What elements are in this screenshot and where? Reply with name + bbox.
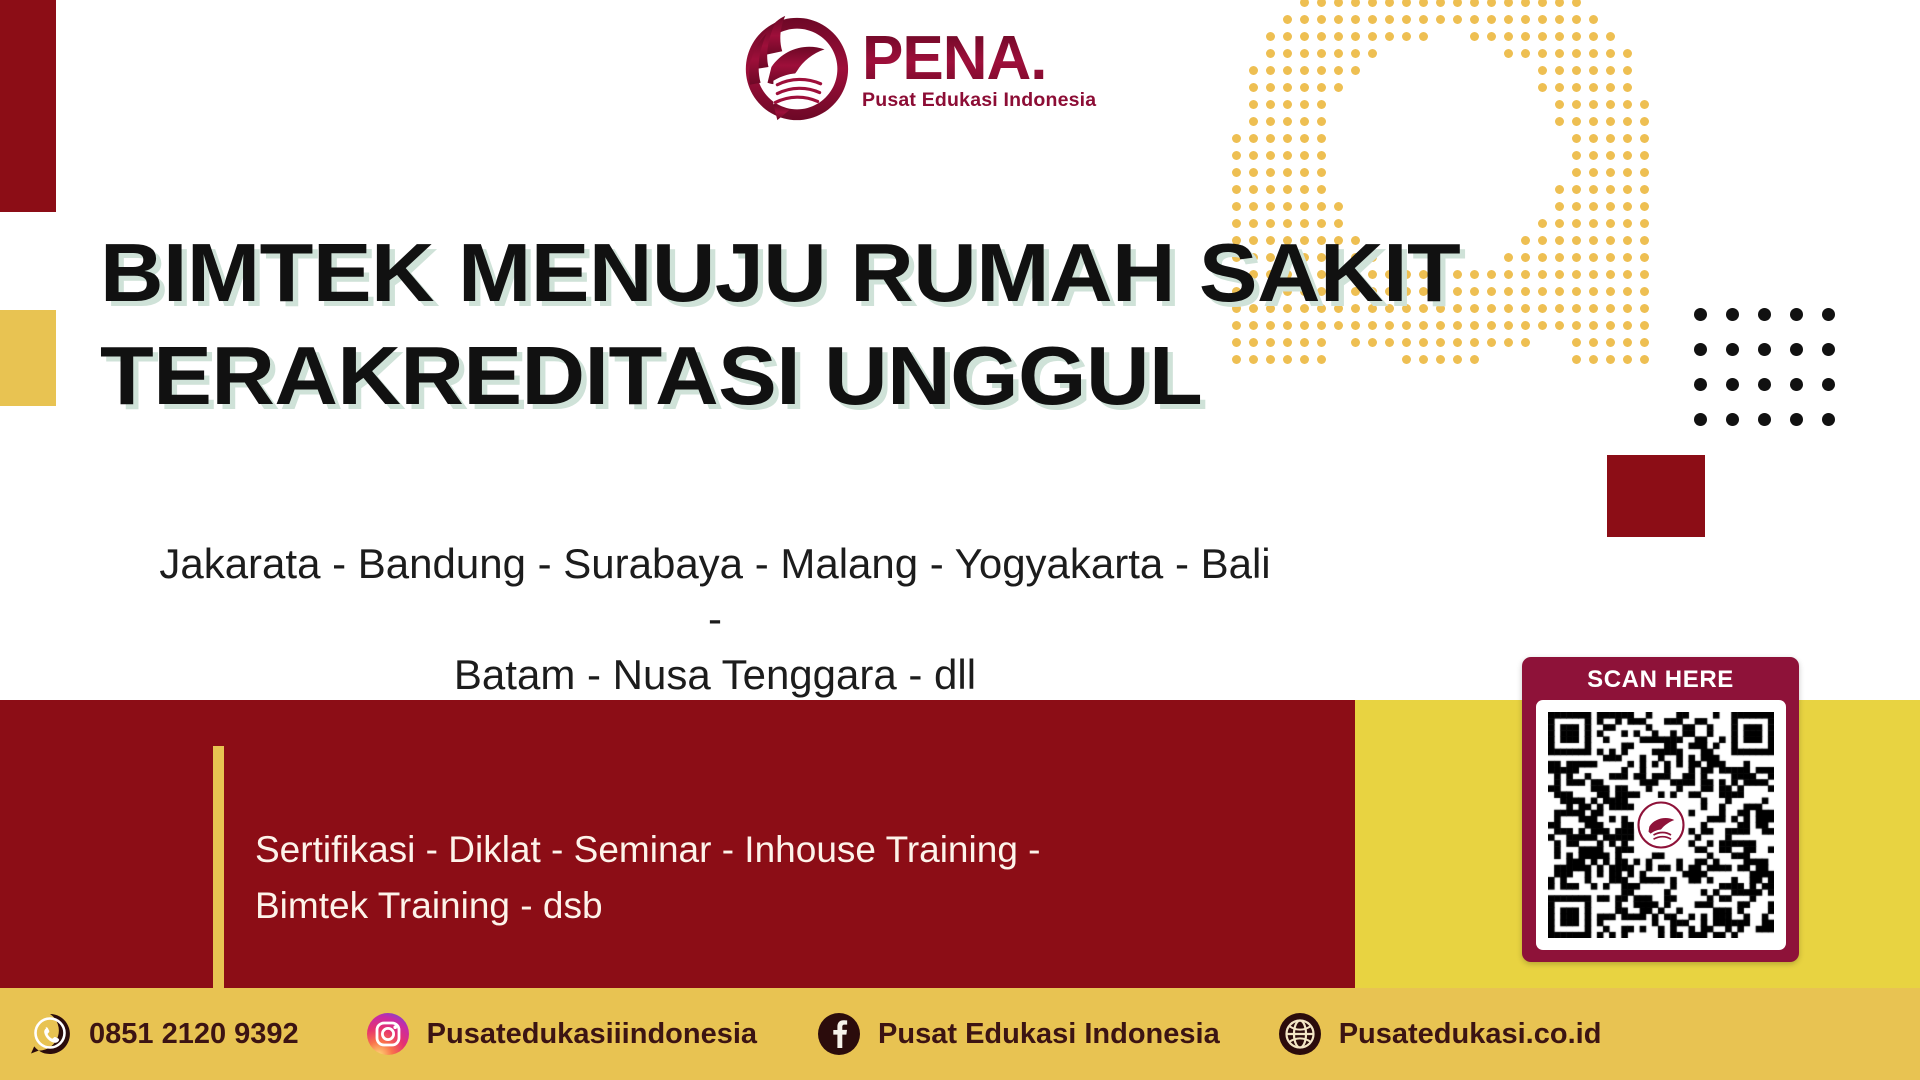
logo-tagline: Pusat Edukasi Indonesia	[862, 89, 1096, 112]
whatsapp-icon	[28, 1012, 72, 1056]
headline-line-1: BIMTEK MENUJU RUMAH SAKIT	[100, 232, 1467, 313]
qr-center-logo-icon	[1634, 798, 1688, 852]
services-accent-bar	[213, 746, 224, 988]
contact-website[interactable]: Pusatedukasi.co.id	[1278, 1012, 1602, 1056]
headline: BIMTEK MENUJU RUMAH SAKIT TERAKREDITASI …	[100, 232, 1390, 417]
services-line-1: Sertifikasi - Diklat - Seminar - Inhouse…	[255, 822, 1265, 878]
cities-line-1: Jakarata - Bandung - Surabaya - Malang -…	[150, 536, 1280, 647]
dot-grid-decoration	[1694, 308, 1844, 440]
services-line-2: Bimtek Training - dsb	[255, 878, 1265, 934]
contact-facebook[interactable]: Pusat Edukasi Indonesia	[817, 1012, 1220, 1056]
contact-website-label: Pusatedukasi.co.id	[1339, 1018, 1602, 1051]
left-gold-block	[0, 310, 56, 406]
contact-instagram-label: Pusatedukasiiindonesia	[427, 1018, 757, 1051]
qr-code[interactable]	[1536, 700, 1786, 950]
cities-line-2: Batam - Nusa Tenggara - dll	[150, 647, 1280, 702]
qr-title: SCAN HERE	[1587, 666, 1734, 694]
contact-whatsapp-label: 0851 2120 9392	[89, 1018, 299, 1051]
maroon-square-decoration	[1607, 455, 1705, 537]
headline-line-2: TERAKREDITASI UNGGUL	[100, 335, 1467, 416]
services-text: Sertifikasi - Diklat - Seminar - Inhouse…	[255, 822, 1265, 934]
contact-whatsapp[interactable]: 0851 2120 9392	[28, 1012, 299, 1056]
contact-facebook-label: Pusat Edukasi Indonesia	[878, 1018, 1220, 1051]
poster-canvas: PENA. Pusat Edukasi Indonesia BIMTEK MEN…	[0, 0, 1920, 1080]
left-maroon-block	[0, 0, 56, 212]
contact-instagram[interactable]: Pusatedukasiiindonesia	[366, 1012, 757, 1056]
qr-panel[interactable]: SCAN HERE	[1522, 657, 1799, 962]
facebook-icon	[817, 1012, 861, 1056]
pena-feather-emblem-icon	[738, 10, 856, 128]
cities-subtitle: Jakarata - Bandung - Surabaya - Malang -…	[150, 536, 1280, 702]
globe-icon	[1278, 1012, 1322, 1056]
contact-footer: 0851 2120 9392	[0, 988, 1920, 1080]
logo-wordmark: PENA.	[862, 30, 1096, 87]
pena-logo: PENA. Pusat Edukasi Indonesia	[738, 8, 1178, 130]
instagram-icon	[366, 1012, 410, 1056]
